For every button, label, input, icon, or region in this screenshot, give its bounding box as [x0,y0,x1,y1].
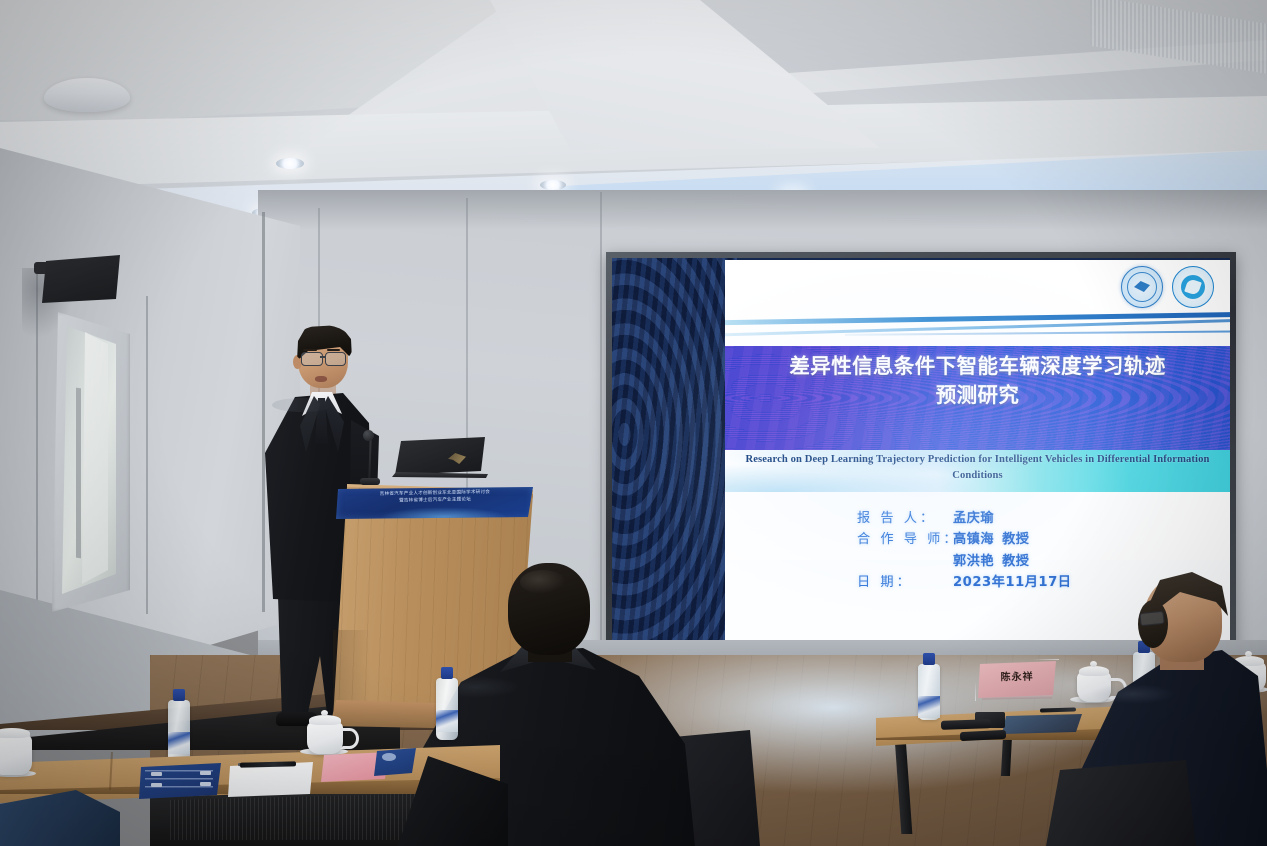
audience-center-hair-highlight [520,570,566,594]
conference-photo-scene: 差异性信息条件下智能车辆深度学习轨迹 预测研究 Research on Deep… [0,0,1267,846]
downlight-icon [540,180,566,190]
microphone-icon [363,430,374,441]
microphone-base [360,478,380,485]
glasses-bridge [320,356,326,358]
water-bottle [436,678,458,740]
cup-lid-knob [321,710,328,716]
conference-folder [374,748,416,776]
downlight-icon [276,158,304,169]
info-label: 合 作 导 师： [857,529,953,550]
slide-info-row: 报 告 人： 孟庆瑜 [857,508,1071,529]
institute-emblem-logo [1172,266,1214,308]
laptop-lid[interactable] [395,437,485,475]
info-value: 高镇海 [953,529,994,550]
cup-lid [309,715,341,725]
cup-lid-knob [1245,651,1252,657]
slide-info-row: 郭洪艳 教授 [857,551,1071,572]
water-bottle [918,664,940,720]
led-moire-pattern [612,258,737,650]
slide-subtitle-en: Research on Deep Learning Trajectory Pre… [743,452,1212,484]
wall-panel-seam [146,296,148,614]
dome-light-fixture [44,78,130,112]
chair [1046,760,1196,846]
info-label: 报 告 人： [857,508,953,529]
info-value-title: 教授 [1002,529,1029,550]
podium-banner: 吉林省汽车产业人才创新创业东北亚国际学术研讨会 暨吉林省博士后汽车产业主题论坛 [336,487,533,519]
slide-logos [1121,266,1214,308]
window-mullion [76,388,81,559]
info-value: 孟庆瑜 [953,508,994,529]
slide-info-row: 合 作 导 师： 高镇海 教授 [857,529,1071,550]
window-inner-pane [82,332,108,584]
cup-lid-knob [1090,661,1097,667]
slide-title-line1: 差异性信息条件下智能车辆深度学习轨迹 [725,352,1230,381]
remote-control[interactable] [941,719,991,730]
info-value: 郭洪艳 [953,551,994,572]
slide-info-row: 日 期： 2023年11月17日 [857,572,1071,593]
info-value-date: 2023年11月17日 [953,572,1071,593]
info-value-title: 教授 [1002,551,1029,572]
audience-right-shoulder-highlight [1090,684,1176,704]
slide-info-block: 报 告 人： 孟庆瑜 合 作 导 师： 高镇海 教授 郭洪艳 教授 日 期： 2… [857,508,1071,594]
glasses-icon [325,352,346,366]
folder-accent [151,783,162,787]
placard-name-text: 陈永祥 [985,667,1049,683]
led-video-wall[interactable]: 差异性信息条件下智能车辆深度学习轨迹 预测研究 Research on Deep… [612,258,1230,650]
slide-title: 差异性信息条件下智能车辆深度学习轨迹 预测研究 [725,352,1230,410]
tea-cup [307,722,343,754]
glasses-icon [301,352,323,366]
folder-emblem [382,753,396,761]
cup-lid [0,728,30,738]
folder-accent [151,772,162,776]
wall-corner-edge [262,212,265,612]
presenter-shoulder-highlight [272,398,332,412]
slide-title-line2: 预测研究 [725,381,1230,410]
wall-speaker-icon [42,255,120,303]
tea-cup [0,735,32,775]
cup-handle [340,728,359,749]
info-label: 日 期： [857,572,953,593]
folder-accent [200,782,211,786]
cup-lid [1079,666,1109,676]
water-bottle [168,700,190,766]
university-seal-logo [1121,266,1163,308]
wall-panel-seam [600,192,602,642]
folder-accent [200,771,211,775]
wall-top-shadow [258,190,1267,230]
glasses-icon [1139,611,1164,626]
tabletop-device-tray [1002,714,1082,734]
presenter-mouth [315,376,327,382]
